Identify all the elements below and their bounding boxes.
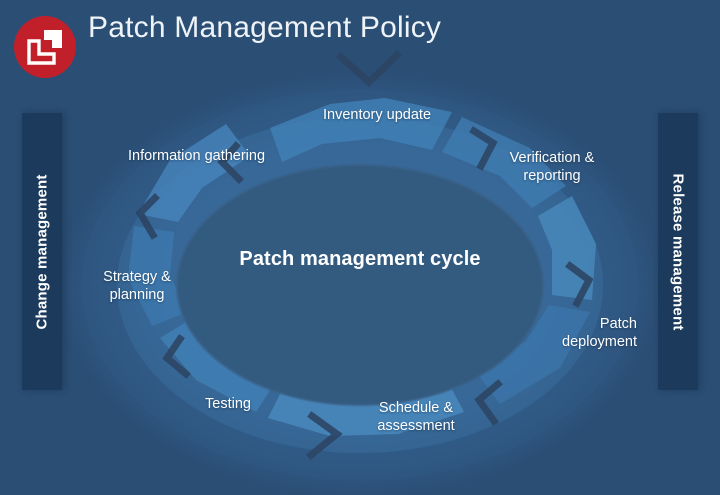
step-patch-deployment: Patch deployment [554, 315, 637, 351]
release-management-label: Release management [670, 173, 687, 330]
release-management-bar: Release management [658, 113, 698, 390]
change-management-label: Change management [34, 174, 51, 329]
slide-canvas: Patch management cycle Inventory update … [0, 0, 720, 495]
step-inventory-update: Inventory update [323, 106, 431, 124]
step-verification-reporting: Verification & reporting [510, 149, 595, 185]
step-strategy-planning: Strategy & planning [103, 268, 171, 304]
overlapping-squares-logo-icon [14, 16, 76, 78]
page-title: Patch Management Policy [88, 11, 441, 45]
step-schedule-assessment: Schedule & assessment [377, 399, 454, 435]
step-testing: Testing [205, 395, 251, 413]
slide-header: Patch Management Policy [0, 0, 720, 78]
step-information-gathering: Information gathering [128, 147, 265, 165]
change-management-bar: Change management [22, 113, 62, 390]
